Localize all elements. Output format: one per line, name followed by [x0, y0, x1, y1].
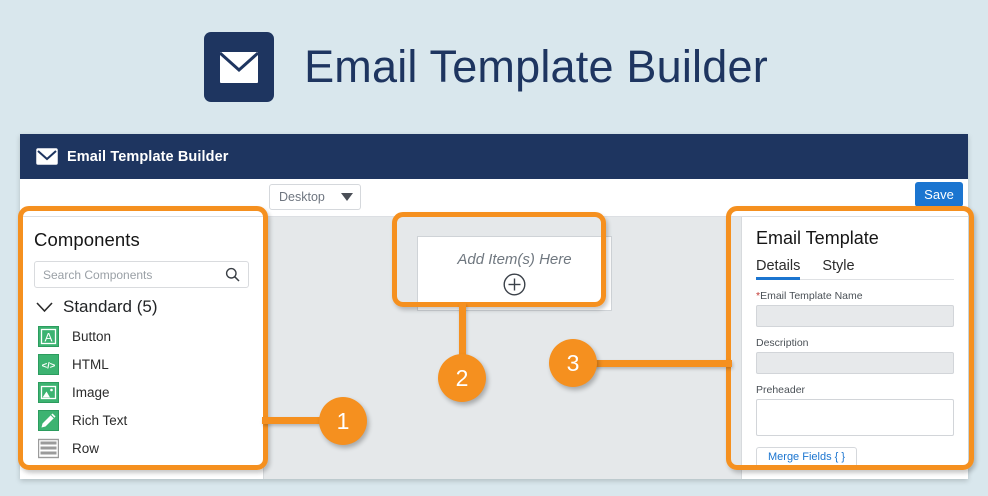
pencil-icon: [38, 410, 59, 431]
component-item-row[interactable]: Row: [34, 434, 249, 462]
rows-stack-icon: [38, 438, 59, 459]
components-heading: Components: [34, 217, 249, 261]
components-panel: Components Standard (5): [20, 217, 264, 479]
field-label: *Email Template Name: [756, 290, 954, 302]
properties-panel: Email Template Details Style *Email Temp…: [741, 217, 968, 479]
search-icon[interactable]: [225, 267, 240, 282]
field-label-text: Email Template Name: [760, 290, 863, 302]
tab-style[interactable]: Style: [822, 258, 854, 279]
email-template-name-input[interactable]: [756, 305, 954, 327]
device-select-value: Desktop: [279, 190, 325, 204]
component-label: Image: [72, 385, 110, 400]
device-select[interactable]: Desktop: [269, 184, 361, 210]
merge-fields-button[interactable]: Merge Fields { }: [756, 447, 857, 468]
field-label: Preheader: [756, 384, 954, 396]
app-header-title: Email Template Builder: [67, 149, 228, 165]
app-window: Email Template Builder Desktop Save Comp…: [20, 134, 968, 479]
properties-heading: Email Template: [756, 217, 954, 258]
search-components-box[interactable]: [34, 261, 249, 288]
field-description: Description: [756, 337, 954, 374]
component-item-html[interactable]: </> HTML: [34, 350, 249, 378]
app-toolbar: Desktop Save: [20, 179, 968, 217]
app-body: Components Standard (5): [20, 217, 968, 479]
page-title: Email Template Builder: [304, 41, 768, 93]
page-title-bar: Email Template Builder: [0, 0, 988, 134]
image-picture-icon: [38, 382, 59, 403]
field-preheader: Preheader: [756, 384, 954, 436]
plus-circle-icon[interactable]: [503, 273, 526, 296]
component-item-rich-text[interactable]: Rich Text: [34, 406, 249, 434]
drop-zone[interactable]: Add Item(s) Here: [417, 236, 612, 311]
standard-group-header[interactable]: Standard (5): [34, 288, 249, 322]
chevron-down-icon: [341, 193, 353, 201]
component-label: HTML: [72, 357, 109, 372]
envelope-icon: [204, 32, 274, 102]
chevron-down-icon[interactable]: [36, 302, 53, 313]
code-brackets-icon: </>: [38, 354, 59, 375]
tab-details[interactable]: Details: [756, 258, 800, 279]
save-button[interactable]: Save: [915, 182, 963, 207]
canvas-area[interactable]: Add Item(s) Here: [265, 217, 741, 479]
properties-tabs: Details Style: [756, 258, 954, 280]
component-label: Rich Text: [72, 413, 127, 428]
field-email-template-name: *Email Template Name: [756, 290, 954, 327]
component-item-image[interactable]: Image: [34, 378, 249, 406]
component-label: Row: [72, 441, 99, 456]
description-input[interactable]: [756, 352, 954, 374]
preheader-textarea[interactable]: [756, 399, 954, 436]
button-letter-a-icon: A: [38, 326, 59, 347]
component-label: Button: [72, 329, 111, 344]
app-header: Email Template Builder: [20, 134, 968, 179]
svg-text:A: A: [44, 330, 52, 344]
svg-text:</>: </>: [42, 360, 56, 371]
field-label: Description: [756, 337, 954, 349]
standard-group-label: Standard (5): [63, 297, 158, 317]
drop-zone-label: Add Item(s) Here: [457, 251, 571, 268]
search-input[interactable]: [43, 268, 221, 282]
title-row: Email Template Builder: [204, 32, 768, 102]
component-item-button[interactable]: A Button: [34, 322, 249, 350]
envelope-icon: [36, 148, 58, 165]
